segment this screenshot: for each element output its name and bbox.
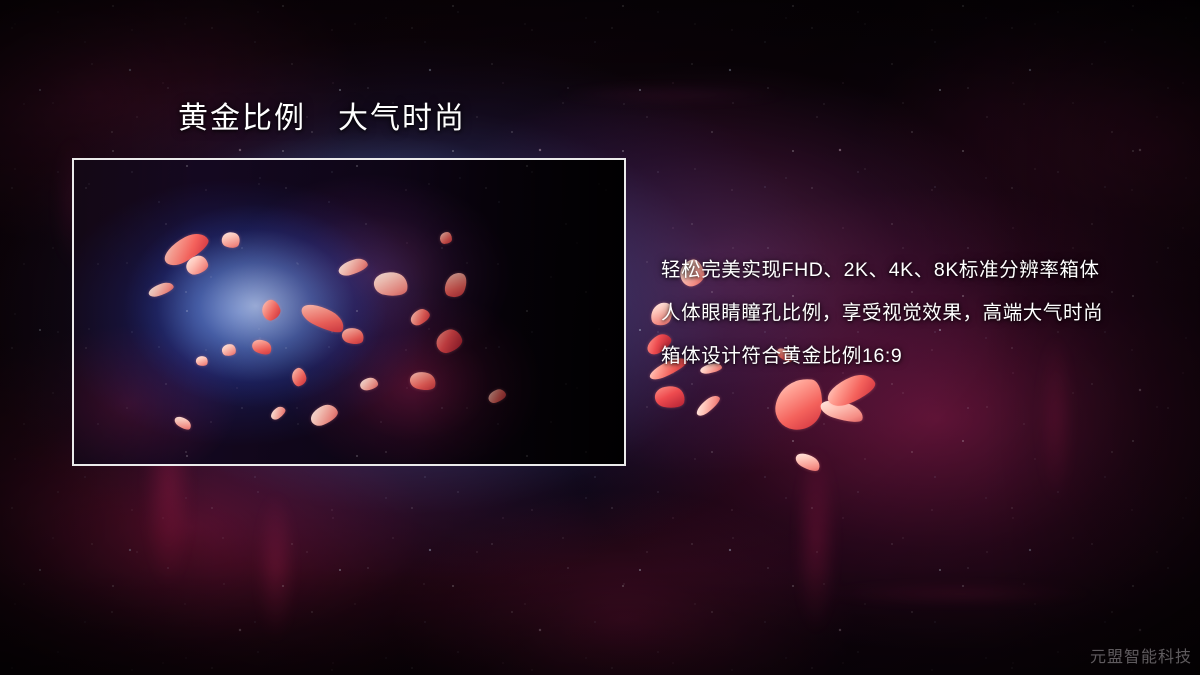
description-line-1: 轻松完美实现FHD、2K、4K、8K标准分辨率箱体: [661, 256, 1161, 299]
panel-edge-shading: [74, 160, 624, 464]
petal: [694, 393, 723, 419]
page-title: 黄金比例 大气时尚: [178, 101, 466, 137]
petal: [793, 449, 823, 474]
preview-panel-frame[interactable]: [72, 158, 626, 466]
feature-description: 轻松完美实现FHD、2K、4K、8K标准分辨率箱体 人体眼睛瞳孔比例，享受视觉效…: [661, 256, 1161, 385]
presentation-slide: 黄金比例 大气时尚 轻松完美实现FHD、2K、4K、8K标准分辨率箱体 人体眼睛…: [0, 0, 1200, 675]
petal: [653, 383, 687, 411]
description-line-2: 人体眼睛瞳孔比例，享受视觉效果，高端大气时尚: [661, 299, 1161, 342]
description-line-3: 箱体设计符合黄金比例16:9: [661, 342, 1161, 385]
brand-watermark: 元盟智能科技: [1090, 643, 1192, 667]
